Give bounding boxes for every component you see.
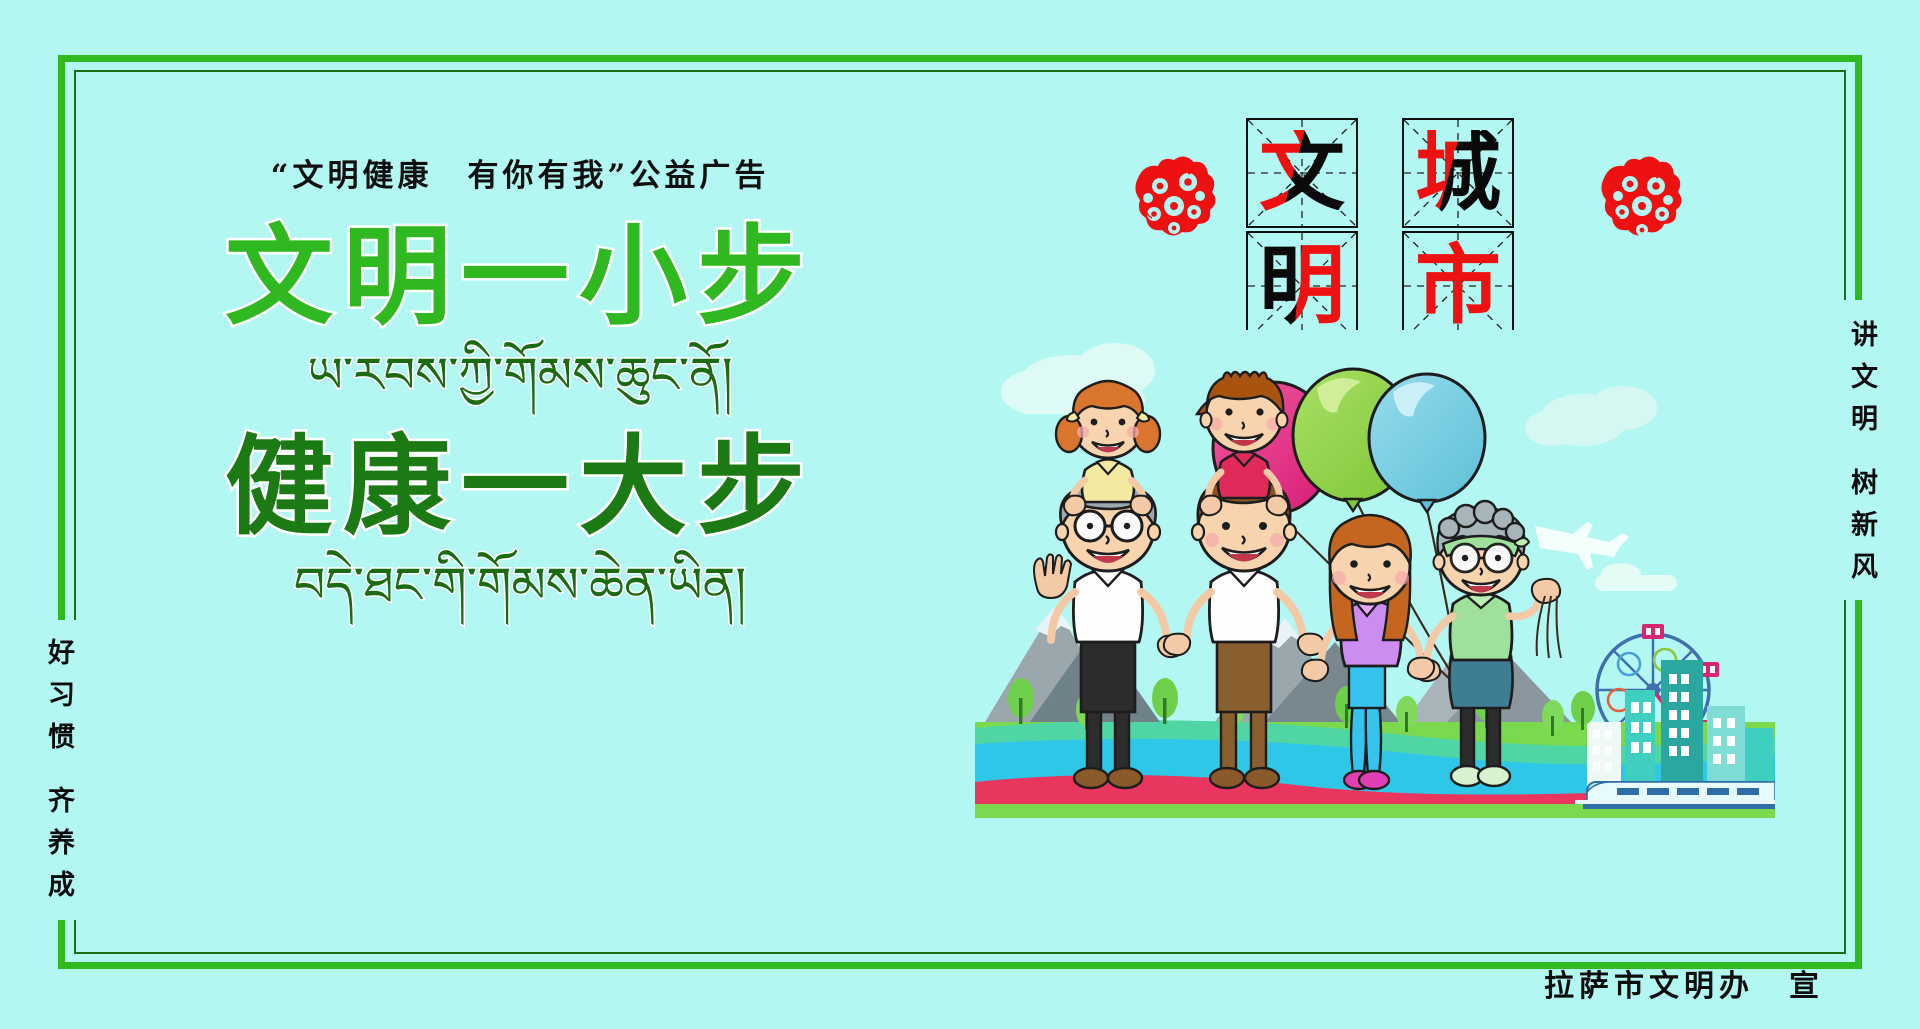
seal-cell-cheng: 城 [1402, 118, 1514, 228]
papercut-flower-icon-right [1596, 148, 1688, 252]
seal-column-right: 城 市 [1402, 118, 1514, 341]
side-text-right: 讲文明 树新风 [1848, 320, 1875, 594]
side-text-right-line-2: 树新风 [1848, 468, 1875, 594]
papercut-flower-icon-left [1130, 148, 1222, 252]
seal-char-2: 明 [1259, 243, 1345, 329]
waving-hand [1034, 554, 1071, 598]
headline-line-2-tibetan: བདེ་ཐང་གི་གོམས་ཆེན་ཡིན། [150, 549, 890, 623]
headline-line-2: 健康一大步 [150, 431, 890, 545]
seal-area: 文 明 城 [1130, 118, 1710, 348]
campaign-quote: “文明健康 有你有我”公益广告 [150, 150, 890, 195]
seal-column-left: 文 明 [1246, 118, 1358, 341]
side-text-left-line-1: 好习惯 [45, 638, 72, 764]
seal-cell-wen: 文 [1246, 118, 1358, 228]
side-text-right-line-1: 讲文明 [1848, 320, 1875, 446]
headline-line-1: 文明一小步 [150, 221, 890, 335]
side-text-left-line-2: 齐养成 [45, 786, 72, 912]
seal-cell-shi: 市 [1402, 231, 1514, 341]
headline-line-1-tibetan: ཡ་རབས་ཀྱི་གོམས་ཆུང་ནོ། [150, 339, 890, 413]
seal-char-4: 市 [1415, 243, 1501, 329]
seal-cell-ming: 明 [1246, 231, 1358, 341]
seal-char-1: 文 [1259, 130, 1345, 216]
publisher-credit: 拉萨市文明办 宣 [1544, 961, 1824, 1005]
poster-root: “文明健康 有你有我”公益广告 文明一小步 ཡ་རབས་ཀྱི་གོམས་ཆུང… [0, 0, 1920, 1029]
train-icon [1575, 782, 1775, 809]
headline-block: “文明健康 有你有我”公益广告 文明一小步 ཡ་རབས་ཀྱི་གོམས་ཆུང… [150, 150, 890, 623]
seal-char-3: 城 [1415, 130, 1501, 216]
side-text-left: 好习惯 齐养成 [45, 638, 72, 912]
cartoon-family-illustration [975, 330, 1775, 860]
grandmother-skirt [1449, 656, 1512, 708]
